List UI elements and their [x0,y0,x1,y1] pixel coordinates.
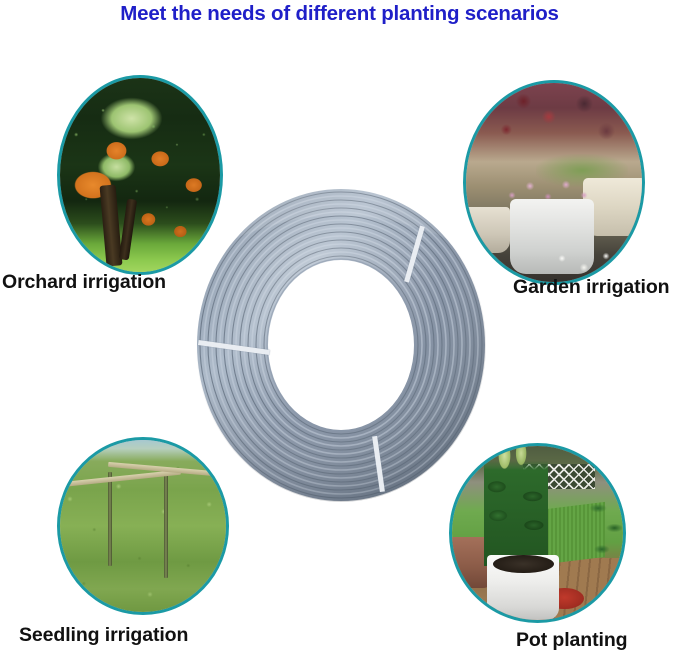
caption-seedling: Seedling irrigation [19,624,188,647]
page-title: Meet the needs of different planting sce… [0,2,679,26]
garden-red-shrubs [468,87,569,157]
pot-soil-surface [493,555,554,573]
caption-pot-planting: Pot planting [516,629,627,652]
caption-garden: Garden irrigation [513,276,670,299]
garden-circle-frame [463,80,645,285]
caption-orchard: Orchard irrigation [2,271,166,294]
hose-coil-center-hole [268,260,414,430]
pot-lily-leaves-right [584,493,626,569]
seedling-trellis-post-left [108,472,112,566]
product-infographic: Meet the needs of different planting sce… [0,0,679,657]
hose-coil [196,188,486,503]
pot-lily-plant [484,446,548,566]
garden-photo [463,80,645,285]
scenario-garden [463,80,645,285]
seedling-trellis-post-right [164,467,168,579]
